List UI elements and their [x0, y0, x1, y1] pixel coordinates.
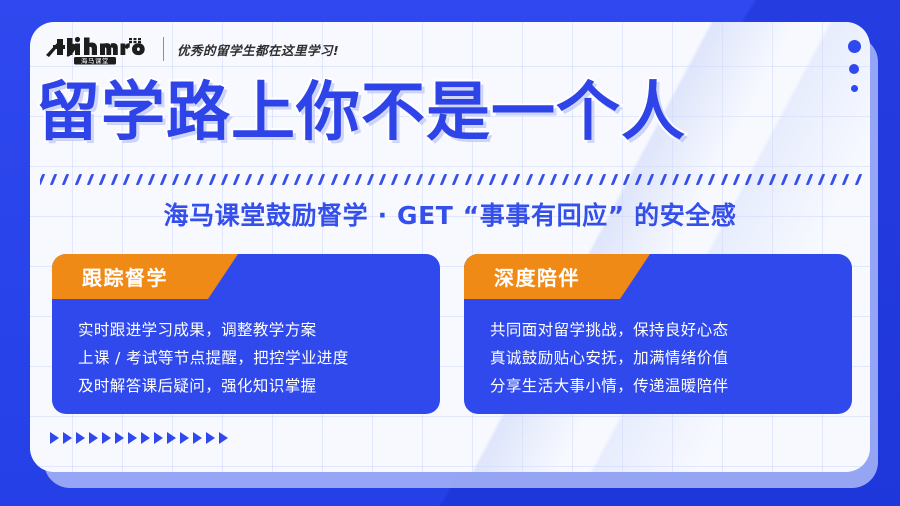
promo-poster: 海马课堂 优秀的留学生都在这里学习! 留学路上你不是一个人 海马课堂鼓励督学 ·… — [0, 0, 900, 506]
slash-dash-icon — [598, 174, 605, 185]
slash-dash-icon — [257, 174, 264, 185]
slash-dash-icon — [379, 174, 386, 185]
card-body-tracking: 实时跟进学习成果，调整教学方案 上课 / 考试等节点提醒，把控学业进度 及时解答… — [52, 310, 440, 400]
card-line: 分享生活大事小情，传递温暖陪伴 — [490, 372, 852, 400]
arrow-right-icon — [76, 432, 85, 444]
slash-dash-icon — [172, 174, 179, 185]
slash-dash-icon — [306, 174, 313, 185]
slash-dash-icon — [99, 174, 106, 185]
arrow-right-icon — [115, 432, 124, 444]
slash-dash-icon — [854, 174, 861, 185]
card-title: 跟踪督学 — [82, 262, 168, 291]
card-line: 及时解答课后疑问，强化知识掌握 — [78, 372, 440, 400]
slash-dash-icon — [635, 174, 642, 185]
slash-dash-icon — [757, 174, 764, 185]
slash-dash-icon — [123, 174, 130, 185]
slash-dash-icon — [367, 174, 374, 185]
slash-dash-icon — [416, 174, 423, 185]
slash-dash-icon — [684, 174, 691, 185]
slash-dash-icon — [294, 174, 301, 185]
slash-dash-icon — [745, 174, 752, 185]
slash-dash-icon — [501, 174, 508, 185]
slash-dash-icon — [403, 174, 410, 185]
card-ribbon-tracking: 跟踪督学 — [52, 254, 238, 299]
arrow-right-icon — [50, 432, 59, 444]
slash-dash-icon — [208, 174, 215, 185]
slash-dash-icon — [732, 174, 739, 185]
arrow-right-icon — [206, 432, 215, 444]
slash-dash-icon — [513, 174, 520, 185]
card-line: 上课 / 考试等节点提醒，把控学业进度 — [78, 344, 440, 372]
slash-dash-icon — [623, 174, 630, 185]
slash-dash-icon — [428, 174, 435, 185]
slash-dash-icon — [452, 174, 459, 185]
slash-dash-icon — [440, 174, 447, 185]
card-ribbon-companionship: 深度陪伴 — [464, 254, 650, 299]
slash-dash-icon — [696, 174, 703, 185]
slash-dash-icon — [781, 174, 788, 185]
decor-arrow-row — [50, 432, 228, 444]
slash-dash-icon — [233, 174, 240, 185]
dot-medium-icon — [849, 64, 859, 74]
arrow-right-icon — [219, 432, 228, 444]
dot-large-icon — [848, 40, 861, 53]
slash-dash-icon — [562, 174, 569, 185]
slash-dash-icon — [147, 174, 154, 185]
arrow-right-icon — [154, 432, 163, 444]
slash-dash-icon — [221, 174, 228, 185]
slash-dash-icon — [160, 174, 167, 185]
slash-dash-icon — [330, 174, 337, 185]
highmark-logo-icon: 海马课堂 — [44, 33, 150, 65]
card-line: 实时跟进学习成果，调整教学方案 — [78, 316, 440, 344]
arrow-right-icon — [63, 432, 72, 444]
arrow-right-icon — [102, 432, 111, 444]
slash-dash-icon — [647, 174, 654, 185]
arrow-right-icon — [193, 432, 202, 444]
slash-dash-icon — [720, 174, 727, 185]
slash-dash-icon — [659, 174, 666, 185]
page-title: 留学路上你不是一个人 — [36, 78, 836, 148]
dot-small-icon — [851, 85, 858, 92]
slash-dash-icon — [586, 174, 593, 185]
slash-dash-icon — [708, 174, 715, 185]
slash-dash-icon — [391, 174, 398, 185]
slash-dash-icon — [87, 174, 94, 185]
card-body-companionship: 共同面对留学挑战，保持良好心态 真诚鼓励贴心安抚，加满情绪价值 分享生活大事小情… — [464, 310, 852, 400]
slash-dash-icon — [611, 174, 618, 185]
slash-dash-icon — [196, 174, 203, 185]
slash-dash-icon — [793, 174, 800, 185]
slash-dash-icon — [842, 174, 849, 185]
card-line: 真诚鼓励贴心安抚，加满情绪价值 — [490, 344, 852, 372]
card-title: 深度陪伴 — [494, 262, 580, 291]
card-line: 共同面对留学挑战，保持良好心态 — [490, 316, 852, 344]
slash-dash-icon — [318, 174, 325, 185]
slash-dash-icon — [477, 174, 484, 185]
slash-dash-icon — [672, 174, 679, 185]
arrow-right-icon — [128, 432, 137, 444]
slash-dash-icon — [62, 174, 69, 185]
slash-dash-icon — [537, 174, 544, 185]
arrow-right-icon — [167, 432, 176, 444]
slash-dash-icon — [818, 174, 825, 185]
slash-dash-icon — [464, 174, 471, 185]
slash-dash-icon — [769, 174, 776, 185]
slash-dash-icon — [574, 174, 581, 185]
slash-dash-icon — [74, 174, 81, 185]
slash-dash-icon — [282, 174, 289, 185]
slash-dash-icon — [184, 174, 191, 185]
slash-dash-icon — [806, 174, 813, 185]
slash-dash-icon — [355, 174, 362, 185]
feature-card-companionship: 深度陪伴 共同面对留学挑战，保持良好心态 真诚鼓励贴心安抚，加满情绪价值 分享生… — [464, 254, 852, 414]
slash-dash-icon — [830, 174, 837, 185]
svg-text:海马课堂: 海马课堂 — [81, 56, 109, 65]
feature-cards: 跟踪督学 实时跟进学习成果，调整教学方案 上课 / 考试等节点提醒，把控学业进度… — [52, 254, 852, 414]
poster-header: 海马课堂 优秀的留学生都在这里学习! — [44, 32, 339, 66]
slash-dash-icon — [550, 174, 557, 185]
slash-dash-icon — [111, 174, 118, 185]
slash-dash-icon — [40, 174, 45, 185]
decor-slash-divider — [40, 172, 862, 186]
slash-dash-icon — [489, 174, 496, 185]
arrow-right-icon — [141, 432, 150, 444]
slash-dash-icon — [245, 174, 252, 185]
slash-dash-icon — [50, 174, 57, 185]
header-tagline: 优秀的留学生都在这里学习! — [177, 40, 339, 59]
slash-dash-icon — [525, 174, 532, 185]
slash-dash-icon — [269, 174, 276, 185]
decor-dots — [842, 40, 866, 92]
arrow-right-icon — [89, 432, 98, 444]
slash-dash-icon — [135, 174, 142, 185]
arrow-right-icon — [180, 432, 189, 444]
feature-card-tracking: 跟踪督学 实时跟进学习成果，调整教学方案 上课 / 考试等节点提醒，把控学业进度… — [52, 254, 440, 414]
page-subtitle: 海马课堂鼓励督学 · GET “事事有回应” 的安全感 — [0, 196, 900, 232]
header-divider — [163, 37, 164, 61]
slash-dash-icon — [342, 174, 349, 185]
